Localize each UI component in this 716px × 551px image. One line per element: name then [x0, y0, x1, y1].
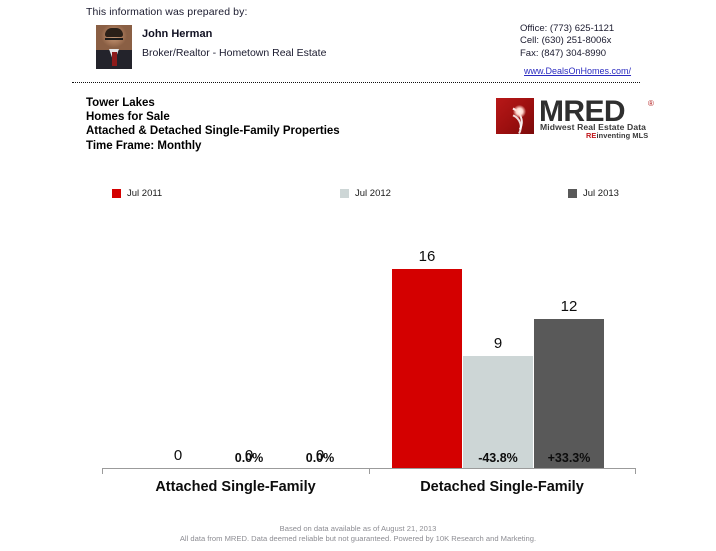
chart-bar — [463, 356, 533, 468]
header-divider — [72, 82, 640, 83]
agent-photo-avatar — [96, 25, 132, 69]
chart-bar — [392, 269, 462, 468]
legend-swatch-icon — [568, 189, 577, 198]
contact-info-block: Office: (773) 625-1121 Cell: (630) 251-8… — [520, 23, 614, 60]
footer-data-date: Based on data available as of August 21,… — [0, 524, 716, 534]
report-title-line-1: Tower Lakes — [86, 96, 340, 110]
chart-plot-area — [102, 212, 636, 468]
chart-bar — [534, 319, 604, 468]
bar-percent-change-label: +33.3% — [534, 451, 604, 465]
category-axis-label: Detached Single-Family — [369, 479, 635, 495]
category-axis-label: Attached Single-Family — [102, 479, 369, 495]
legend-label: Jul 2011 — [127, 188, 162, 199]
report-title-line-3: Attached & Detached Single-Family Proper… — [86, 124, 340, 138]
registered-trademark-icon: ® — [648, 99, 654, 108]
legend-item-jul-2013[interactable]: Jul 2013 — [568, 188, 619, 199]
axis-tick — [369, 468, 370, 474]
bar-value-label: 0 — [285, 447, 355, 464]
mred-subtag-re: RE — [586, 131, 596, 140]
axis-tick — [102, 468, 103, 474]
bar-percent-change-label: 0.0% — [285, 451, 355, 465]
footer-disclaimer: All data from MRED. Data deemed reliable… — [0, 534, 716, 544]
agent-title: Broker/Realtor - Hometown Real Estate — [142, 47, 326, 59]
chart-axis-line — [102, 468, 636, 469]
legend-label: Jul 2012 — [355, 188, 391, 199]
chart-footer: Based on data available as of August 21,… — [0, 524, 716, 545]
mred-logo: MRED ® Midwest Real Estate Data REinvent… — [496, 98, 664, 138]
legend-label: Jul 2013 — [583, 188, 619, 199]
legend-swatch-icon — [112, 189, 121, 198]
report-title: Tower Lakes Homes for Sale Attached & De… — [86, 96, 340, 153]
agent-name: John Herman — [142, 28, 212, 40]
mred-swoosh-star-icon — [496, 98, 534, 134]
bar-value-label: 0 — [214, 447, 284, 464]
axis-tick — [635, 468, 636, 474]
mred-subtag-rest: inventing MLS — [596, 131, 648, 140]
report-title-line-4: Time Frame: Monthly — [86, 139, 340, 153]
agent-block: John Herman Broker/Realtor - Hometown Re… — [96, 25, 386, 71]
office-phone: Office: (773) 625-1121 — [520, 23, 614, 35]
mred-subtagline: REinventing MLS — [586, 131, 648, 140]
prepared-by-label: This information was prepared by: — [86, 6, 247, 18]
chart-legend: Jul 2011Jul 2012Jul 2013 — [102, 188, 636, 202]
fax-number: Fax: (847) 304-8990 — [520, 48, 614, 60]
bar-value-label: 16 — [392, 248, 462, 265]
website-link[interactable]: www.DealsOnHomes.com/ — [524, 66, 631, 76]
bar-value-label: 9 — [463, 335, 533, 352]
bar-percent-change-label: 0.0% — [214, 451, 284, 465]
legend-item-jul-2012[interactable]: Jul 2012 — [340, 188, 391, 199]
legend-item-jul-2011[interactable]: Jul 2011 — [112, 188, 162, 199]
bar-value-label: 0 — [143, 447, 213, 464]
bar-percent-change-label: -43.8% — [463, 451, 533, 465]
bar-value-label: 12 — [534, 298, 604, 315]
cell-phone: Cell: (630) 251-8006x — [520, 35, 614, 47]
report-title-line-2: Homes for Sale — [86, 110, 340, 124]
prepared-by-header: This information was prepared by: John H… — [0, 0, 716, 84]
legend-swatch-icon — [340, 189, 349, 198]
